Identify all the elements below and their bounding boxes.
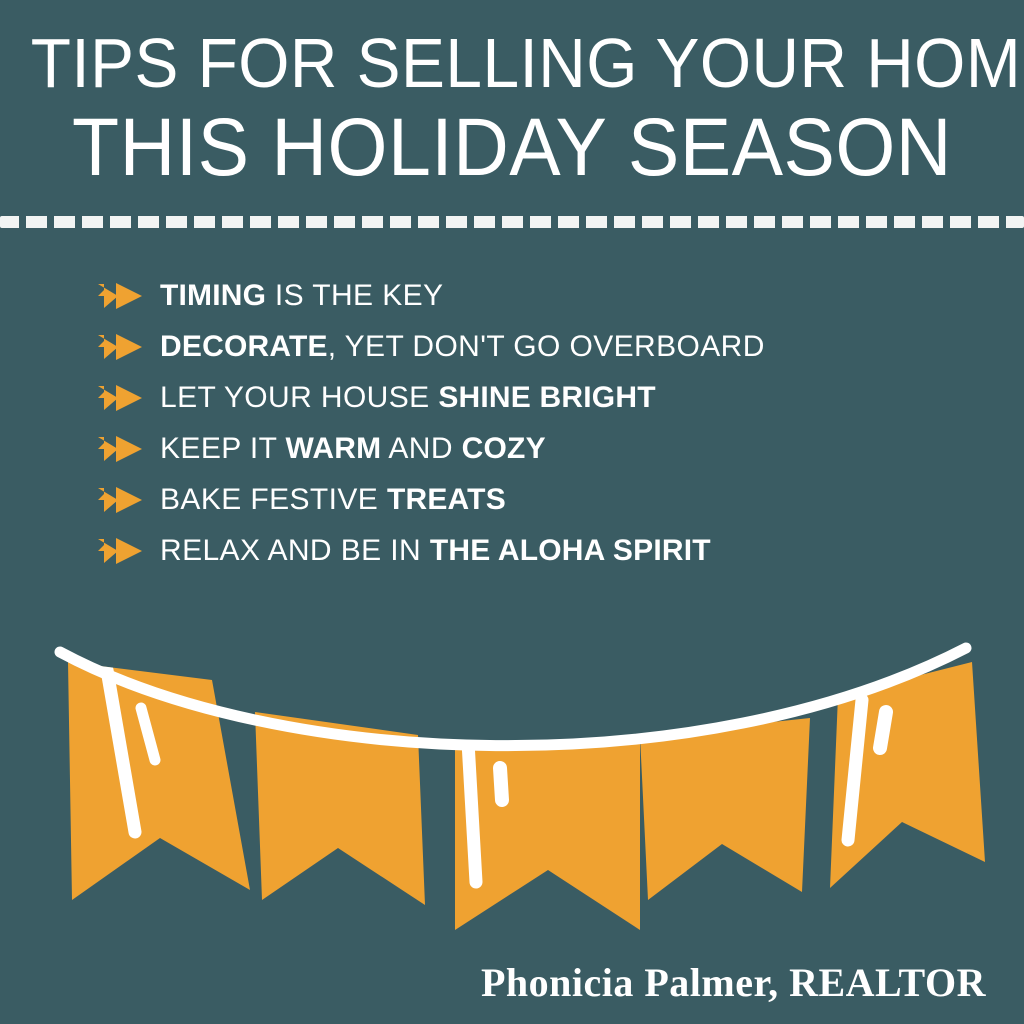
bunting-banner [0,600,1024,960]
pennant-4 [640,718,810,900]
tip-text-emphasis: TREATS [387,483,506,516]
tip-text-emphasis: TIMING [160,279,266,312]
title-line-2: THIS HOLIDAY SEASON [31,104,994,192]
double-chevron-right-icon [98,281,144,311]
signature-realtor-name: Phonicia Palmer, REALTOR [481,960,986,1006]
tip-text-plain: , YET DON'T GO OVERBOARD [328,330,765,363]
dashed-divider [0,216,1024,228]
tip-row: TIMING IS THE KEY [98,270,958,321]
tip-text-plain: IS THE KEY [266,279,443,312]
tip-text: LET YOUR HOUSE SHINE BRIGHT [160,382,656,414]
double-chevron-right-icon [98,536,144,566]
pennant-3 [455,740,640,930]
tip-row: DECORATE, YET DON'T GO OVERBOARD [98,321,958,372]
tip-row: RELAX AND BE IN THE ALOHA SPIRIT [98,525,958,576]
tip-text-plain: AND [381,432,461,465]
tip-text-emphasis: DECORATE [160,330,328,363]
tip-text-emphasis: THE ALOHA SPIRIT [430,534,711,567]
tip-text: BAKE FESTIVE TREATS [160,484,506,516]
tip-row: KEEP IT WARM AND COZY [98,423,958,474]
tip-text-plain: KEEP IT [160,432,286,465]
double-chevron-right-icon [98,485,144,515]
poster-canvas: TIPS FOR SELLING YOUR HOME THIS HOLIDAY … [0,0,1024,1024]
tip-text: TIMING IS THE KEY [160,280,443,312]
double-chevron-right-icon [98,383,144,413]
tips-list: TIMING IS THE KEYDECORATE, YET DON'T GO … [98,270,958,576]
tip-text-emphasis: COZY [462,432,546,465]
title-line-1: TIPS FOR SELLING YOUR HOME [31,26,994,100]
tip-text-plain: LET YOUR HOUSE [160,381,438,414]
tip-row: LET YOUR HOUSE SHINE BRIGHT [98,372,958,423]
tip-text: DECORATE, YET DON'T GO OVERBOARD [160,331,765,363]
title-block: TIPS FOR SELLING YOUR HOME THIS HOLIDAY … [0,26,1024,192]
tip-text-plain: RELAX AND BE IN [160,534,430,567]
tip-text-plain: BAKE FESTIVE [160,483,387,516]
tip-row: BAKE FESTIVE TREATS [98,474,958,525]
double-chevron-right-icon [98,332,144,362]
tip-text: KEEP IT WARM AND COZY [160,433,546,465]
double-chevron-right-icon [98,434,144,464]
tip-text-emphasis: SHINE BRIGHT [438,381,655,414]
tip-text-emphasis: WARM [286,432,382,465]
tip-text: RELAX AND BE IN THE ALOHA SPIRIT [160,535,711,567]
